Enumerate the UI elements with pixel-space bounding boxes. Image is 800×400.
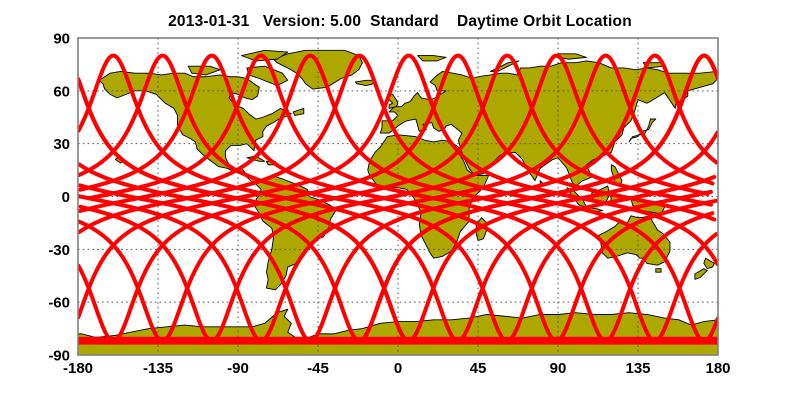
x-tick-label: 0 <box>394 360 402 377</box>
y-tick-label: -60 <box>48 295 70 312</box>
y-tick-label: -30 <box>48 242 70 259</box>
x-axis-labels: -180-135-90-4504590135180 <box>63 360 731 377</box>
orbit-map-plot: -90-60-300306090 -180-135-90-45045901351… <box>0 0 800 400</box>
y-tick-label: 0 <box>62 189 70 206</box>
x-tick-label: -180 <box>63 360 93 377</box>
y-axis-labels: -90-60-300306090 <box>48 31 70 365</box>
x-tick-label: 45 <box>470 360 487 377</box>
y-tick-label: 30 <box>53 136 70 153</box>
x-tick-label: -45 <box>307 360 329 377</box>
orbit-location-figure: 2013-01-31 Version: 5.00 Standard Daytim… <box>0 0 800 400</box>
x-tick-label: -135 <box>143 360 173 377</box>
y-tick-label: 60 <box>53 83 70 100</box>
x-tick-label: 90 <box>550 360 567 377</box>
landmass-tasmania <box>656 269 661 273</box>
y-tick-label: 90 <box>53 31 70 48</box>
x-tick-label: 135 <box>625 360 650 377</box>
x-tick-label: -90 <box>227 360 249 377</box>
x-tick-label: 180 <box>705 360 730 377</box>
